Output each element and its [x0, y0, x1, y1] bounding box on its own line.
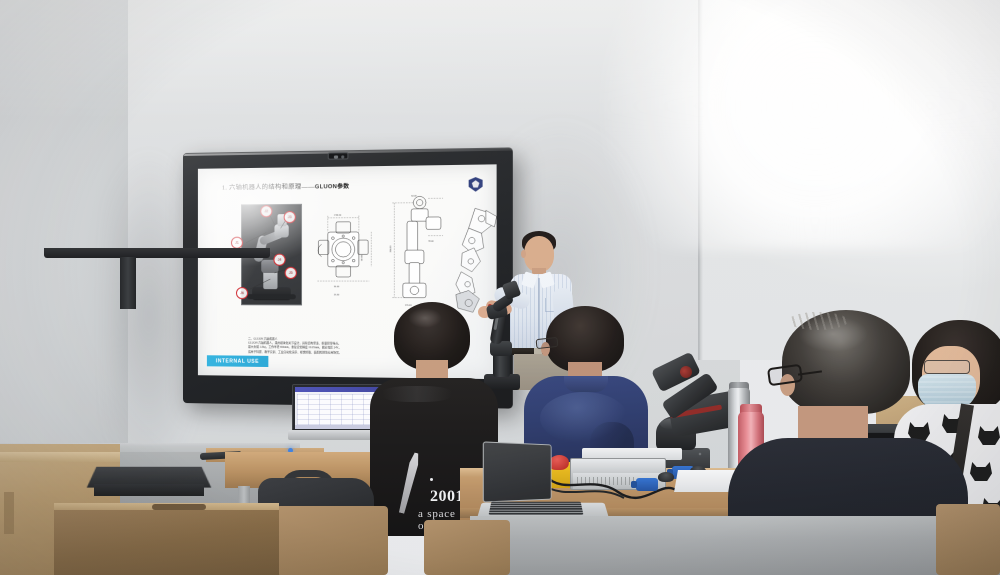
display-stand-leg: [120, 257, 136, 309]
presenter-ear: [521, 250, 526, 258]
ceiling-light-tint: [0, 0, 1000, 120]
display-stand-bar: [44, 248, 270, 258]
cad-side-view-drawing: 54.00 268.00 78.00 176.00: [382, 190, 447, 314]
box-handle-cutout: [152, 504, 206, 510]
callout-j6: J6: [236, 287, 248, 299]
callout-j1: J1: [231, 237, 243, 249]
webcam-indicator: [341, 155, 344, 158]
macbook-keyboard[interactable]: [489, 502, 584, 515]
callout-j3: J3: [284, 211, 296, 223]
chair-right[interactable]: [936, 504, 1000, 575]
callout-j4: J4: [273, 254, 285, 266]
svg-text:25.50: 25.50: [334, 294, 340, 296]
monitor-riser-base: [94, 484, 204, 496]
callout-j2: J2: [260, 205, 272, 217]
webcam-icon: [327, 152, 348, 159]
classroom-scene: 1. 六轴机器人的结构和原理——GLUON参数: [0, 0, 1000, 575]
svg-text:54.00: 54.00: [334, 286, 340, 288]
box-flap: [0, 452, 120, 462]
svg-text:112.00: 112.00: [360, 254, 362, 261]
institute-shield-logo: [469, 177, 483, 192]
macbook-lid[interactable]: [483, 441, 552, 502]
callout-j5: J5: [285, 267, 297, 279]
internal-use-badge: INTERNAL USE: [207, 355, 268, 367]
svg-text:∅36.50: ∅36.50: [334, 214, 342, 217]
presenter-head: [524, 236, 554, 272]
suction-cup-1: [658, 472, 674, 482]
student-shoulder-highlight: [382, 386, 452, 402]
tshirt-print-dot: [430, 478, 433, 481]
webcam-lens: [334, 155, 338, 158]
cat-motif-6: [970, 462, 992, 481]
spreadsheet-grid: [297, 394, 379, 425]
box-tape: [4, 492, 14, 534]
attendee-polo-collar: [564, 376, 608, 392]
blue-connector-3: [636, 478, 658, 491]
foreground-attendee-hair-texture: [788, 312, 848, 330]
svg-text:78.00: 78.00: [428, 241, 434, 243]
cat-motif-2: [978, 426, 1000, 445]
foreground-cardboard-box: [54, 510, 279, 575]
svg-text:54.00: 54.00: [411, 195, 417, 197]
main-desk-apron: [470, 516, 1000, 575]
cad-top-view-drawing: ∅36.50 54.00 25.50 112.00: [313, 209, 377, 308]
slide-title: 1. 六轴机器人的结构和原理——GLUON参数: [222, 181, 350, 192]
student-hair-sheen: [408, 308, 442, 328]
svg-text:268.00: 268.00: [390, 245, 392, 252]
chair-foreground-2[interactable]: [424, 520, 510, 575]
chair-foreground[interactable]: [276, 506, 388, 575]
